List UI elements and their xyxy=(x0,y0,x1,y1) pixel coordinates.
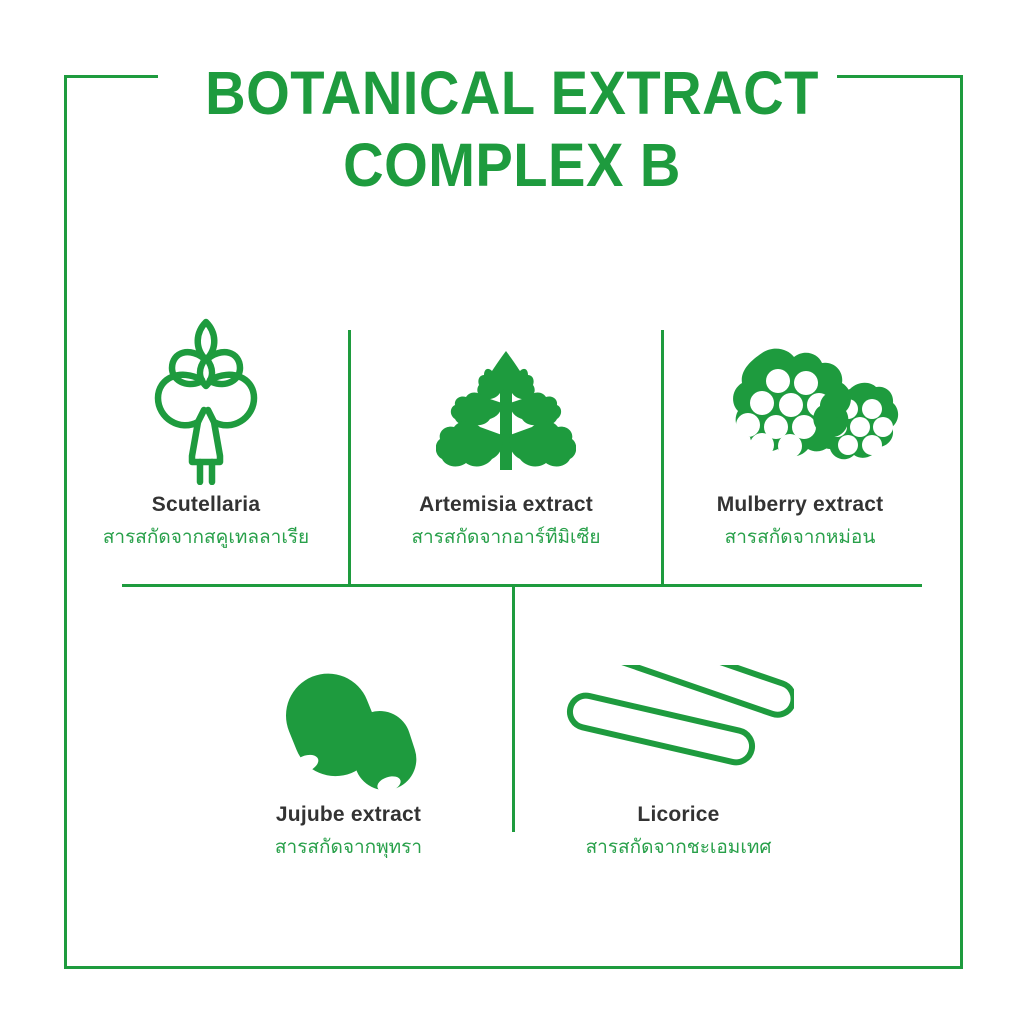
mulberry-berry-icon xyxy=(664,310,936,485)
divider-horizontal-middle xyxy=(122,584,922,587)
artemisia-leaf-icon xyxy=(351,310,661,485)
scutellaria-flower-icon xyxy=(64,310,348,485)
ingredient-card-mulberry: Mulberry extract สารสกัดจากหม่อน xyxy=(664,310,936,552)
ingredient-card-jujube: Jujube extract สารสกัดจากพุทรา xyxy=(185,645,512,862)
ingredient-name: Scutellaria xyxy=(64,493,348,517)
ingredient-name-thai: สารสกัดจากชะเอมเทศ xyxy=(515,832,842,862)
ingredient-card-licorice: Licorice สารสกัดจากชะเอมเทศ xyxy=(515,645,842,862)
ingredient-name: Mulberry extract xyxy=(664,493,936,517)
jujube-fruit-icon xyxy=(185,645,512,795)
page-title: BOTANICAL EXTRACT COMPLEX B xyxy=(41,57,983,201)
ingredient-name-thai: สารสกัดจากอาร์ทีมิเซีย xyxy=(351,522,661,552)
frame-bottom-edge xyxy=(64,966,963,969)
ingredient-name: Licorice xyxy=(515,803,842,827)
ingredient-name-thai: สารสกัดจากหม่อน xyxy=(664,522,936,552)
ingredient-card-scutellaria: Scutellaria สารสกัดจากสคูเทลลาเรีย xyxy=(64,310,348,552)
ingredient-name-thai: สารสกัดจากสคูเทลลาเรีย xyxy=(64,522,348,552)
ingredient-name: Jujube extract xyxy=(185,803,512,827)
ingredient-card-artemisia: Artemisia extract สารสกัดจากอาร์ทีมิเซีย xyxy=(351,310,661,552)
ingredient-name: Artemisia extract xyxy=(351,493,661,517)
botanical-extract-poster: BOTANICAL EXTRACT COMPLEX B xyxy=(0,0,1024,1024)
frame-right-edge xyxy=(960,75,963,969)
licorice-root-sticks-icon xyxy=(515,645,842,795)
ingredient-name-thai: สารสกัดจากพุทรา xyxy=(185,832,512,862)
